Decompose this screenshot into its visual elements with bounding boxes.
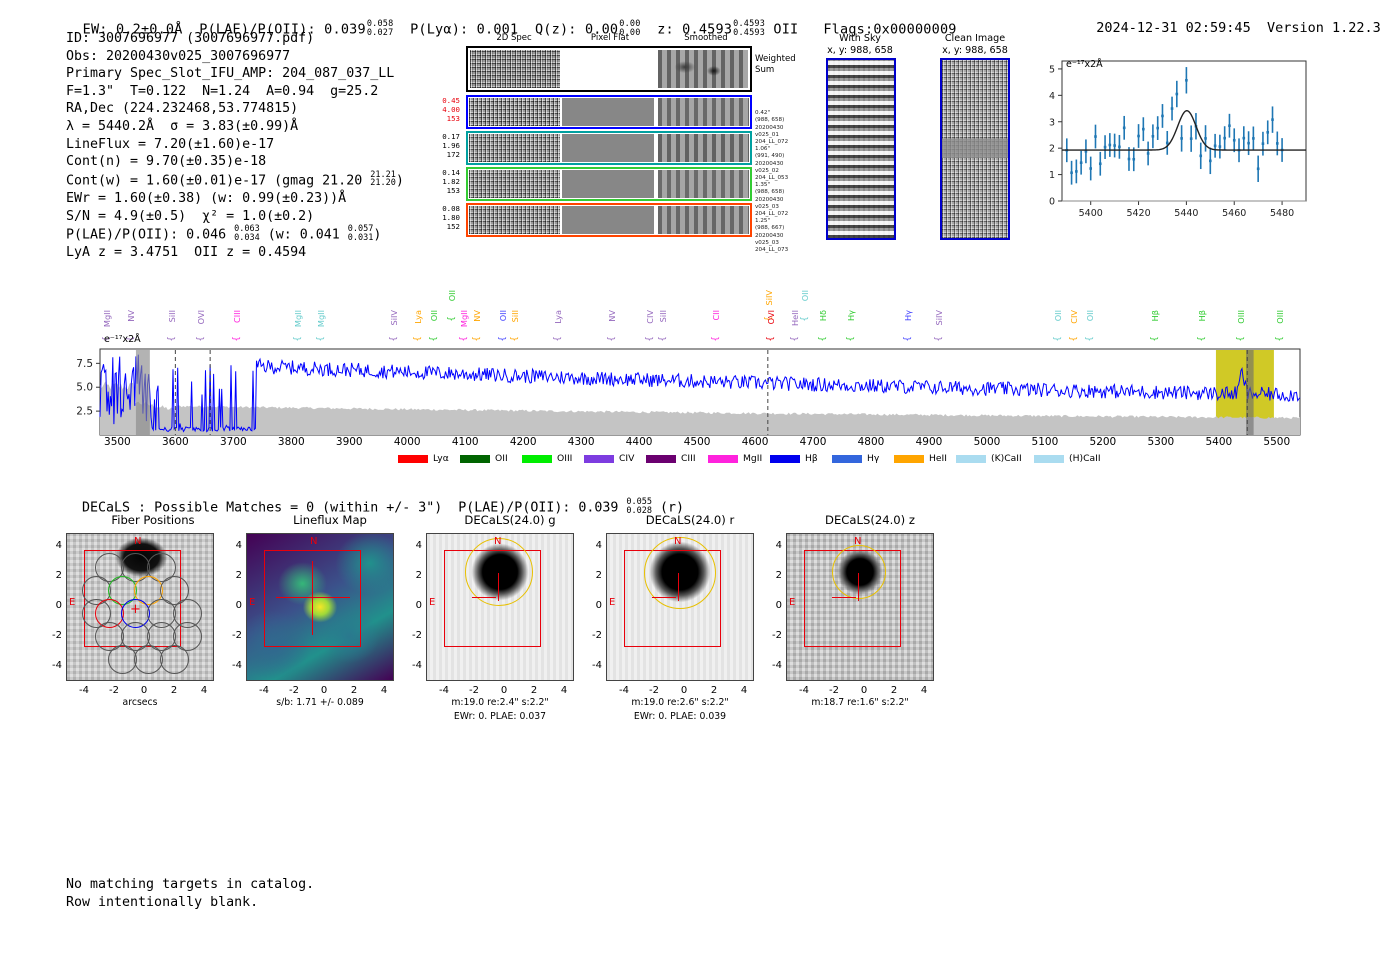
ion-bracket: { (658, 336, 668, 342)
decals-z-crosshair-h (832, 597, 856, 598)
compass-north-label: N (310, 536, 317, 547)
ion-label: NV (126, 310, 136, 322)
cutout-ytick: 4 (42, 540, 62, 551)
ion-label: MgII (459, 310, 469, 327)
spec2d-row-left-values: 0.17 1.96 172 (418, 132, 460, 160)
cutout-ytick: -2 (42, 630, 62, 641)
panel-title-lineflux-map: Lineflux Map (240, 513, 420, 527)
cutout-ytick: -4 (582, 660, 602, 671)
decals-g-overlay: N E (426, 533, 574, 681)
cutout-xtick: 0 (673, 685, 695, 696)
cutout-xtick: -4 (613, 685, 635, 696)
lineflux-map-overlay: N E (246, 533, 394, 681)
spec2d-row-smoothed-image (658, 134, 749, 162)
ion-bracket: { (711, 336, 721, 342)
spec2d-row-left-values: 0.08 1.80 152 (418, 204, 460, 232)
compass-north-label: N (134, 536, 141, 547)
ion-bracket: { (934, 336, 944, 342)
cutout-ytick: 2 (582, 570, 602, 581)
cutout-ytick: -4 (402, 660, 422, 671)
cutout-xtick: 0 (133, 685, 155, 696)
ion-bracket: { (1085, 336, 1095, 342)
ion-label: Lya (413, 310, 423, 324)
line-fit-ylabel: e⁻¹⁷x2Å (1066, 59, 1103, 70)
cutout-ytick: -4 (762, 660, 782, 671)
decals-r-crosshair-v (678, 573, 679, 601)
ion-label: OVI (766, 310, 776, 324)
clean-image-title: Clean Image x, y: 988, 658 (920, 33, 1030, 57)
ion-bracket: { (167, 336, 177, 342)
ion-bracket: { (1053, 336, 1063, 342)
compass-east-label: E (69, 597, 75, 608)
svg-text:5480: 5480 (1270, 208, 1294, 219)
legend-swatch (770, 455, 800, 463)
panel-title-fiber-positions: Fiber Positions (63, 513, 243, 527)
panel-caption-decals-g-1: m:19.0 re:2.4" s:2.2" (420, 697, 580, 709)
legend-swatch (522, 455, 552, 463)
legend-item: Hβ (770, 453, 818, 464)
panel-title-decals-r: DECaLS(24.0) r (600, 513, 780, 527)
spectrum-xtick: 3700 (210, 436, 256, 448)
svg-text:5: 5 (1049, 64, 1055, 75)
cutout-ytick: 4 (402, 540, 422, 551)
cutout-xtick: 4 (733, 685, 755, 696)
compass-east-label: E (429, 597, 435, 608)
spec2d-row-2dspec-image (469, 98, 560, 126)
spec2d-row-left-values: 0.45 4.00 153 (418, 96, 460, 124)
spectrum-xtick: 4100 (442, 436, 488, 448)
cutout-ytick: 0 (222, 600, 242, 611)
decals-r-overlay: N E (606, 533, 754, 681)
spectrum-xtick: 4700 (790, 436, 836, 448)
ion-bracket: { (1197, 336, 1207, 342)
legend-item: (H)CaII (1034, 453, 1101, 464)
spec2d-row-2dspec-image (469, 134, 560, 162)
footer-line-2: Row intentionally blank. (66, 894, 314, 912)
with-sky-title: With Sky x, y: 988, 658 (810, 33, 910, 57)
legend-swatch (646, 455, 676, 463)
ion-label: OIII (1275, 310, 1285, 324)
decals-z-overlay: N E (786, 533, 934, 681)
legend-label: CIII (681, 453, 696, 464)
spec2d-fiber-row (466, 203, 752, 237)
clean-image-title-text: Clean Image (920, 33, 1030, 45)
ion-label: Lya (553, 310, 563, 324)
panel-caption-lineflux: s/b: 1.71 +/- 0.089 (246, 697, 394, 709)
ion-label: OII (429, 310, 439, 321)
spectrum-ylabel: e⁻¹⁷x2Å (104, 334, 141, 345)
spectrum-xtick: 4900 (906, 436, 952, 448)
ion-label: SiIV (389, 310, 399, 326)
spec2d-row-right-meta: 1.25"(988, 667)20200430v025_03204_LL_073 (755, 203, 788, 270)
spectrum-xtick: 5400 (1196, 436, 1242, 448)
spec2d-row-pixelflat-image (562, 206, 654, 234)
cutout-xtick: -4 (433, 685, 455, 696)
ion-bracket: { (607, 336, 617, 342)
legend-swatch (708, 455, 738, 463)
cutout-ytick: 2 (222, 570, 242, 581)
ion-label: NV (472, 310, 482, 322)
clean-image-cutout (940, 58, 1010, 240)
spectrum-xtick: 5500 (1254, 436, 1300, 448)
compass-north-label: N (494, 536, 501, 547)
ion-bracket: { (447, 316, 457, 322)
ion-bracket: { (1275, 336, 1285, 342)
cutout-ytick: 4 (762, 540, 782, 551)
ion-bracket: { (790, 336, 800, 342)
cutout-xtick: 4 (193, 685, 215, 696)
spec2d-row-pixelflat-image (562, 170, 654, 198)
cutout-xtick: 2 (343, 685, 365, 696)
svg-text:5.0: 5.0 (76, 382, 93, 394)
cutout-xtick: 4 (553, 685, 575, 696)
cutout-ytick: 4 (222, 540, 242, 551)
legend-label: (K)CaII (991, 453, 1022, 464)
ion-label: OII (1053, 310, 1063, 321)
lineflux-crosshair-h (276, 597, 350, 598)
cutout-ytick: 0 (42, 600, 62, 611)
fiber-circle (160, 645, 189, 674)
cutout-ytick: 0 (762, 600, 782, 611)
ion-label: HeII (790, 310, 800, 326)
legend-swatch (832, 455, 862, 463)
panel-title-decals-g: DECaLS(24.0) g (420, 513, 600, 527)
fiber-circle (108, 645, 137, 674)
spectrum-xtick: 4800 (848, 436, 894, 448)
ion-label: MgII (293, 310, 303, 327)
cutout-ytick: 2 (42, 570, 62, 581)
legend-item: CIV (584, 453, 634, 464)
spectrum-xtick: 5300 (1138, 436, 1184, 448)
spec2d-fiber-row (466, 167, 752, 201)
spectrum-xtick: 3900 (326, 436, 372, 448)
cutout-ytick: 2 (762, 570, 782, 581)
spectrum-xtick: 4500 (674, 436, 720, 448)
fiber-positions-overlay: N E + (66, 533, 214, 681)
panel-caption-decals-z-1: m:18.7 re:1.6" s:2.2" (780, 697, 940, 709)
cutout-xtick: -4 (793, 685, 815, 696)
spectrum-xtick: 3500 (94, 436, 140, 448)
spec2d-row-pixelflat-image (562, 134, 654, 162)
cutout-xtick: -2 (463, 685, 485, 696)
cutout-xtick: 0 (853, 685, 875, 696)
svg-text:3: 3 (1049, 117, 1055, 128)
ion-bracket: { (472, 336, 482, 342)
compass-east-label: E (609, 597, 615, 608)
cutout-ytick: -4 (42, 660, 62, 671)
legend-swatch (894, 455, 924, 463)
ion-bracket: { (903, 336, 913, 342)
legend-label: OIII (557, 453, 572, 464)
spectrum-xtick: 5000 (964, 436, 1010, 448)
ion-bracket: { (498, 336, 508, 342)
panel-title-decals-z: DECaLS(24.0) z (780, 513, 960, 527)
cutout-xtick: -2 (823, 685, 845, 696)
svg-text:1: 1 (1049, 170, 1055, 181)
cutout-ytick: -2 (582, 630, 602, 641)
cutout-panel-row: Fiber Positions N E + Lineflux Map N E (0, 505, 1400, 725)
full-spectrum-panel: MgII{NV{SiII{OVI{CIII{MgII{MgII{SiIV{Lya… (0, 270, 1400, 470)
legend-item: Lyα (398, 453, 449, 464)
spectrum-xtick: 5100 (1022, 436, 1068, 448)
ion-bracket: { (553, 336, 563, 342)
svg-text:5400: 5400 (1079, 208, 1103, 219)
compass-north-label: N (674, 536, 681, 547)
ion-label: CIV (1069, 310, 1079, 324)
svg-text:4: 4 (1049, 91, 1055, 102)
ion-bracket: { (293, 336, 303, 342)
cutout-ytick: 0 (582, 600, 602, 611)
svg-text:5420: 5420 (1126, 208, 1150, 219)
footer-line-1: No matching targets in catalog. (66, 876, 314, 894)
cutout-xtick: -4 (253, 685, 275, 696)
footer-note: No matching targets in catalog. Row inte… (66, 876, 314, 911)
svg-text:2.5: 2.5 (76, 406, 93, 418)
ion-label: Hγ (846, 310, 856, 321)
ion-bracket: { (645, 336, 655, 342)
spec2d-row-left-values: 0.14 1.82 153 (418, 168, 460, 196)
ion-label: CIII (232, 310, 242, 323)
spectrum-xtick: 4600 (732, 436, 778, 448)
ion-label: OII (1085, 310, 1095, 321)
legend-label: OII (495, 453, 508, 464)
ion-label: SiII (658, 310, 668, 322)
legend-label: Hβ (805, 453, 818, 464)
legend-item: (K)CaII (956, 453, 1022, 464)
spec2d-fiber-row (466, 95, 752, 129)
ion-bracket: { (766, 336, 776, 342)
decals-z-crosshair-v (858, 573, 859, 601)
with-sky-coords: x, y: 988, 658 (810, 45, 910, 57)
svg-text:0: 0 (1049, 197, 1055, 208)
ion-label: OIII (1236, 310, 1246, 324)
legend-item: Hγ (832, 453, 879, 464)
ion-bracket: { (846, 336, 856, 342)
ion-label: SiIV (764, 290, 774, 306)
spectrum-xtick: 4300 (558, 436, 604, 448)
panel-caption-decals-r-2: EWr: 0. PLAE: 0.039 (600, 711, 760, 723)
ion-bracket: { (1150, 336, 1160, 342)
line-fit-svg: 012345 54005420544054605480 (1040, 55, 1310, 230)
svg-text:5440: 5440 (1174, 208, 1198, 219)
ion-label: CIV (645, 310, 655, 324)
panel-caption-decals-r-1: m:19.0 re:2.6" s:2.2" (600, 697, 760, 709)
cutout-xtick: -2 (283, 685, 305, 696)
ion-label: Hβ (1150, 310, 1160, 321)
svg-text:7.5: 7.5 (76, 358, 93, 370)
ion-label: NV (607, 310, 617, 322)
cutout-xtick: -2 (103, 685, 125, 696)
cutout-xtick: 2 (523, 685, 545, 696)
cutout-ytick: -2 (402, 630, 422, 641)
spec2d-row-pixelflat-image (562, 98, 654, 126)
emission-line-fit-plot: 012345 54005420544054605480 e⁻¹⁷x2Å (1040, 55, 1310, 230)
ion-bracket: { (818, 336, 828, 342)
decals-g-crosshair-v (498, 573, 499, 601)
legend-label: Lyα (433, 453, 449, 464)
ion-label: MgII (102, 310, 112, 327)
ion-label: CII (711, 310, 721, 321)
decals-g-crosshair-h (472, 597, 496, 598)
legend-swatch (956, 455, 986, 463)
legend-item: HeII (894, 453, 947, 464)
legend-label: CIV (619, 453, 634, 464)
legend-label: Hγ (867, 453, 879, 464)
spectrum-xtick: 4000 (384, 436, 430, 448)
cutout-ytick: 4 (582, 540, 602, 551)
legend-label: HeII (929, 453, 947, 464)
ion-label: SiIV (934, 310, 944, 326)
cutout-xtick: 2 (163, 685, 185, 696)
spec2d-row-smoothed-image (658, 170, 749, 198)
legend-swatch (398, 455, 428, 463)
spec2d-fiber-row (466, 131, 752, 165)
ion-bracket: { (1069, 336, 1079, 342)
ion-label: SiII (167, 310, 177, 322)
legend-item: OII (460, 453, 508, 464)
ion-label: OII (498, 310, 508, 321)
cutout-xtick: -4 (73, 685, 95, 696)
cutout-ytick: -4 (222, 660, 242, 671)
ion-label: Hβ (1197, 310, 1207, 321)
compass-north-label: N (854, 536, 861, 547)
cutout-xtick: 4 (373, 685, 395, 696)
clean-image-coords: x, y: 988, 658 (920, 45, 1030, 57)
compass-east-label: E (789, 597, 795, 608)
cutout-xtick: 0 (493, 685, 515, 696)
spec2d-row-2dspec-image (469, 170, 560, 198)
legend-item: OIII (522, 453, 572, 464)
fiber-circle (134, 645, 163, 674)
ion-label-layer: MgII{NV{SiII{OVI{CIII{MgII{MgII{SiIV{Lya… (0, 270, 1400, 348)
ion-bracket: { (232, 336, 242, 342)
ion-bracket: { (1236, 336, 1246, 342)
svg-text:5460: 5460 (1222, 208, 1246, 219)
with-sky-title-text: With Sky (810, 33, 910, 45)
cutout-ytick: -2 (222, 630, 242, 641)
spectrum-xtick: 3800 (268, 436, 314, 448)
ion-bracket: { (429, 336, 439, 342)
ion-bracket: { (459, 336, 469, 342)
legend-swatch (1034, 455, 1064, 463)
spectrum-xtick: 3600 (152, 436, 198, 448)
ion-bracket: { (510, 336, 520, 342)
legend-label: (H)CaII (1069, 453, 1101, 464)
target-cross-marker: + (130, 602, 141, 617)
spectrum-xtick: 5200 (1080, 436, 1126, 448)
ion-label: SiII (510, 310, 520, 322)
ion-label: OII (447, 290, 457, 301)
ion-bracket: { (196, 336, 206, 342)
spec2d-row-smoothed-image (658, 98, 749, 126)
spectrum-xtick: 4200 (500, 436, 546, 448)
cutout-xtick: 4 (913, 685, 935, 696)
decals-r-crosshair-h (652, 597, 676, 598)
cutout-ytick: 0 (402, 600, 422, 611)
cutout-xtick: 2 (703, 685, 725, 696)
panel-caption-decals-g-2: EWr: 0. PLAE: 0.037 (420, 711, 580, 723)
ion-label: Hγ (903, 310, 913, 321)
ion-label: OII (800, 290, 810, 301)
legend-item: CIII (646, 453, 696, 464)
svg-text:2: 2 (1049, 144, 1055, 155)
legend-swatch (460, 455, 490, 463)
ion-label: OVI (196, 310, 206, 324)
ion-label: MgII (316, 310, 326, 327)
cutout-xtick: 0 (313, 685, 335, 696)
spectrum-xaxis-ticks: 3500360037003800390040004100420043004400… (0, 436, 1400, 452)
cutout-ytick: -2 (762, 630, 782, 641)
legend-label: MgII (743, 453, 762, 464)
spec2d-row-2dspec-image (469, 206, 560, 234)
spec2d-row-smoothed-image (658, 206, 749, 234)
ion-bracket: { (316, 336, 326, 342)
panel-caption-fiber: arcsecs (66, 697, 214, 709)
cutout-xtick: -2 (643, 685, 665, 696)
legend-item: MgII (708, 453, 762, 464)
ion-bracket: { (800, 316, 810, 322)
ion-label: Hδ (818, 310, 828, 321)
spectrum-xtick: 4400 (616, 436, 662, 448)
compass-east-label: E (249, 597, 255, 608)
ion-bracket: { (389, 336, 399, 342)
cutout-ytick: 2 (402, 570, 422, 581)
cutout-xtick: 2 (883, 685, 905, 696)
legend-swatch (584, 455, 614, 463)
spectrum-legend: LyαOIIOIIICIVCIIIMgIIHβHγHeII(K)CaII(H)C… (0, 453, 1400, 469)
ion-bracket: { (413, 336, 423, 342)
with-sky-image (826, 58, 896, 240)
